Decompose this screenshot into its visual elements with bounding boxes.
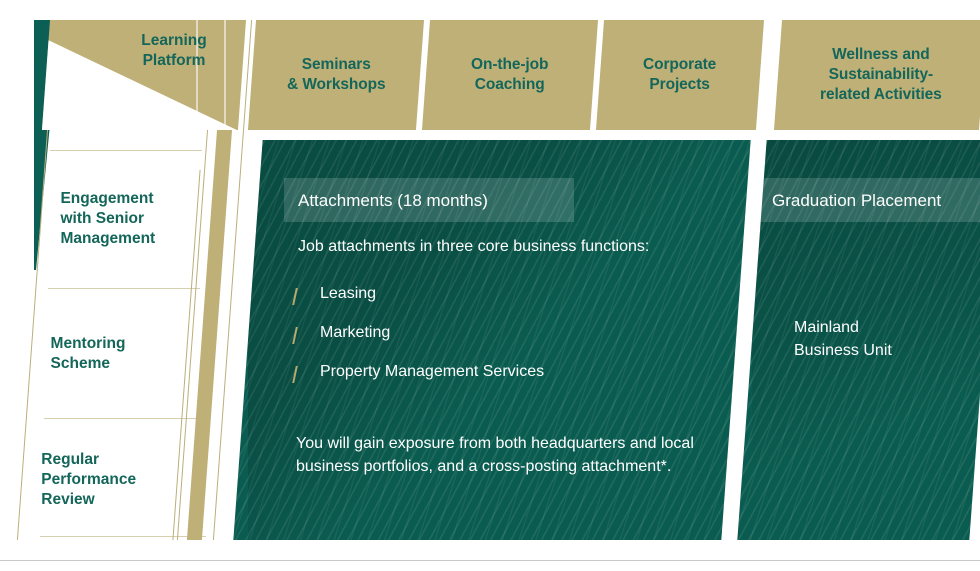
- list-item-label: Property Management Services: [320, 361, 544, 383]
- slash-bullet-icon: [292, 366, 298, 383]
- list-item-label: Leasing: [320, 283, 376, 305]
- tab-on-the-job-coaching[interactable]: On-the-jobCoaching: [422, 20, 598, 130]
- sidebar-item-mentoring-scheme[interactable]: MentoringScheme: [10, 290, 209, 418]
- tab-label: Wellness andSustainability-related Activ…: [814, 45, 948, 104]
- slash-bullet-icon: [292, 327, 298, 344]
- list-item: Property Management Services: [294, 361, 714, 400]
- sidebar-divider: [48, 288, 200, 289]
- tab-seminars-and-workshops[interactable]: Seminars& Workshops: [248, 20, 424, 130]
- graduation-heading: Graduation Placement: [758, 192, 941, 209]
- attachments-heading-band: Attachments (18 months): [284, 178, 574, 222]
- attachments-heading: Attachments (18 months): [284, 192, 488, 209]
- attachments-panel: Attachments (18 months) Job attachments …: [233, 140, 750, 540]
- list-item-label: Marketing: [320, 322, 390, 344]
- attachments-bullet-list: Leasing Marketing Property Management Se…: [294, 283, 714, 400]
- list-item: Marketing: [294, 322, 714, 361]
- graduation-placement-panel: Graduation Placement MainlandBusiness Un…: [737, 140, 980, 540]
- sidebar-divider: [50, 150, 202, 151]
- sidebar-divider: [44, 418, 196, 419]
- sidebar-divider: [40, 536, 206, 537]
- bottom-divider: [0, 560, 980, 561]
- attachments-closing-text: You will gain exposure from both headqua…: [296, 432, 708, 478]
- sidebar-item-engagement-with-senior-management[interactable]: Engagementwith SeniorManagement: [19, 152, 219, 287]
- list-item: Leasing: [294, 283, 714, 322]
- tab-label: CorporateProjects: [637, 55, 722, 95]
- infographic-root: LearningSupport Engagementwith SeniorMan…: [0, 0, 980, 571]
- sidebar-item-label: RegularPerformanceReview: [5, 450, 136, 510]
- tab-corporate-projects[interactable]: CorporateProjects: [596, 20, 764, 130]
- slash-bullet-icon: [292, 288, 298, 305]
- tab-wellness-and-sustainability-related-activities[interactable]: Wellness andSustainability-related Activ…: [774, 20, 980, 130]
- sidebar-item-label: Engagementwith SeniorManagement: [24, 189, 155, 249]
- graduation-heading-band: Graduation Placement: [758, 178, 980, 222]
- sidebar-item-regular-performance-review[interactable]: RegularPerformanceReview: [1, 420, 200, 540]
- graduation-body-text: MainlandBusiness Unit: [794, 316, 974, 362]
- tab-label: Seminars& Workshops: [281, 55, 392, 95]
- attachments-lead-text: Job attachments in three core business f…: [298, 235, 718, 258]
- tab-row: Seminars& Workshops On-the-jobCoaching C…: [0, 20, 980, 130]
- tab-label: On-the-jobCoaching: [465, 55, 554, 95]
